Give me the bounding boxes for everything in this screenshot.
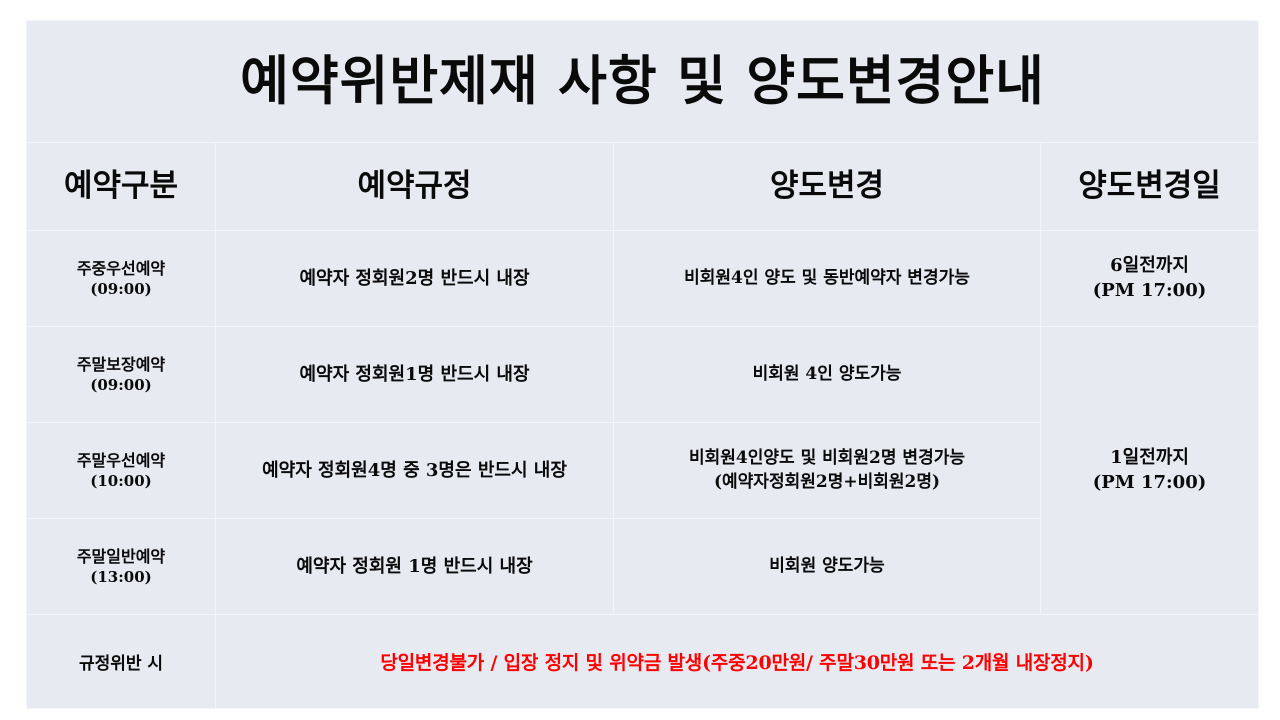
violation-label: 규정위반 시 xyxy=(79,654,163,674)
notice-table-container: 예약위반제재 사항 및 양도변경안내 예약구분 예약규정 양도변경 양도 xyxy=(26,20,1258,706)
table-header-row: 예약구분 예약규정 양도변경 양도변경일 xyxy=(27,143,1259,231)
title-row: 예약위반제재 사항 및 양도변경안내 xyxy=(27,21,1259,143)
table-row: 주말보장예약 (09:00) 예약자 정회원1명 반드시 내장 비회원 4인 양… xyxy=(27,327,1259,423)
cell-transfer: 비회원 4인 양도가능 xyxy=(614,327,1041,423)
transfer-date-line1: 6일전까지 xyxy=(1047,254,1252,278)
category-name: 주말보장예약 xyxy=(33,354,209,376)
column-header-transfer-label: 양도변경 xyxy=(770,168,884,204)
category-name: 주말일반예약 xyxy=(33,546,209,568)
transfer-date-line2: (PM 17:00) xyxy=(1047,471,1252,495)
transfer-date-line2: (PM 17:00) xyxy=(1047,279,1252,303)
rule-text: 예약자 정회원 1명 반드시 내장 xyxy=(296,556,532,577)
column-header-transfer-date: 양도변경일 xyxy=(1041,143,1259,231)
column-header-transfer: 양도변경 xyxy=(614,143,1041,231)
cell-rule: 예약자 정회원1명 반드시 내장 xyxy=(216,327,614,423)
category-name: 주말우선예약 xyxy=(33,450,209,472)
rule-text: 예약자 정회원2명 반드시 내장 xyxy=(299,268,529,289)
rule-text: 예약자 정회원4명 중 3명은 반드시 내장 xyxy=(262,460,567,481)
column-header-rule: 예약규정 xyxy=(216,143,614,231)
cell-violation-label: 규정위반 시 xyxy=(27,615,216,709)
cell-category: 주말우선예약 (10:00) xyxy=(27,423,216,519)
cell-category: 주말일반예약 (13:00) xyxy=(27,519,216,615)
document-title-cell: 예약위반제재 사항 및 양도변경안내 xyxy=(27,21,1259,143)
reservation-policy-table: 예약위반제재 사항 및 양도변경안내 예약구분 예약규정 양도변경 양도 xyxy=(26,20,1259,709)
transfer-text-line1: 비회원4인양도 및 비회원2명 변경가능 xyxy=(620,447,1034,471)
category-time: (13:00) xyxy=(33,567,209,587)
category-time: (09:00) xyxy=(33,279,209,299)
column-header-rule-label: 예약규정 xyxy=(357,168,471,204)
table-row: 주중우선예약 (09:00) 예약자 정회원2명 반드시 내장 비회원4인 양도… xyxy=(27,231,1259,327)
cell-rule: 예약자 정회원 1명 반드시 내장 xyxy=(216,519,614,615)
category-time: (10:00) xyxy=(33,471,209,491)
transfer-date-line1: 1일전까지 xyxy=(1047,446,1252,470)
cell-rule: 예약자 정회원4명 중 3명은 반드시 내장 xyxy=(216,423,614,519)
page-title: 예약위반제재 사항 및 양도변경안내 xyxy=(240,50,1045,112)
cell-transfer: 비회원 양도가능 xyxy=(614,519,1041,615)
cell-transfer: 비회원4인양도 및 비회원2명 변경가능 (예약자정회원2명+비회원2명) xyxy=(614,423,1041,519)
category-time: (09:00) xyxy=(33,375,209,395)
cell-transfer: 비회원4인 양도 및 동반예약자 변경가능 xyxy=(614,231,1041,327)
column-header-category-label: 예약구분 xyxy=(64,168,178,204)
transfer-text-line1: 비회원 양도가능 xyxy=(620,555,1034,579)
document-page: 예약위반제재 사항 및 양도변경안내 예약구분 예약규정 양도변경 양도 xyxy=(0,0,1280,720)
category-name: 주중우선예약 xyxy=(33,258,209,280)
cell-transfer-date: 6일전까지 (PM 17:00) xyxy=(1041,231,1259,327)
transfer-text-line1: 비회원4인 양도 및 동반예약자 변경가능 xyxy=(620,267,1034,291)
transfer-text-line2: (예약자정회원2명+비회원2명) xyxy=(620,471,1034,495)
violation-row: 규정위반 시 당일변경불가 / 입장 정지 및 위약금 발생(주중20만원/ 주… xyxy=(27,615,1259,709)
violation-penalty-text: 당일변경불가 / 입장 정지 및 위약금 발생(주중20만원/ 주말30만원 또… xyxy=(380,652,1093,674)
cell-violation-text: 당일변경불가 / 입장 정지 및 위약금 발생(주중20만원/ 주말30만원 또… xyxy=(216,615,1259,709)
cell-category: 주중우선예약 (09:00) xyxy=(27,231,216,327)
cell-category: 주말보장예약 (09:00) xyxy=(27,327,216,423)
rule-text: 예약자 정회원1명 반드시 내장 xyxy=(299,364,529,385)
cell-rule: 예약자 정회원2명 반드시 내장 xyxy=(216,231,614,327)
column-header-transfer-date-label: 양도변경일 xyxy=(1078,168,1221,204)
cell-transfer-date-merged: 1일전까지 (PM 17:00) xyxy=(1041,327,1259,615)
column-header-category: 예약구분 xyxy=(27,143,216,231)
transfer-text-line1: 비회원 4인 양도가능 xyxy=(620,363,1034,387)
